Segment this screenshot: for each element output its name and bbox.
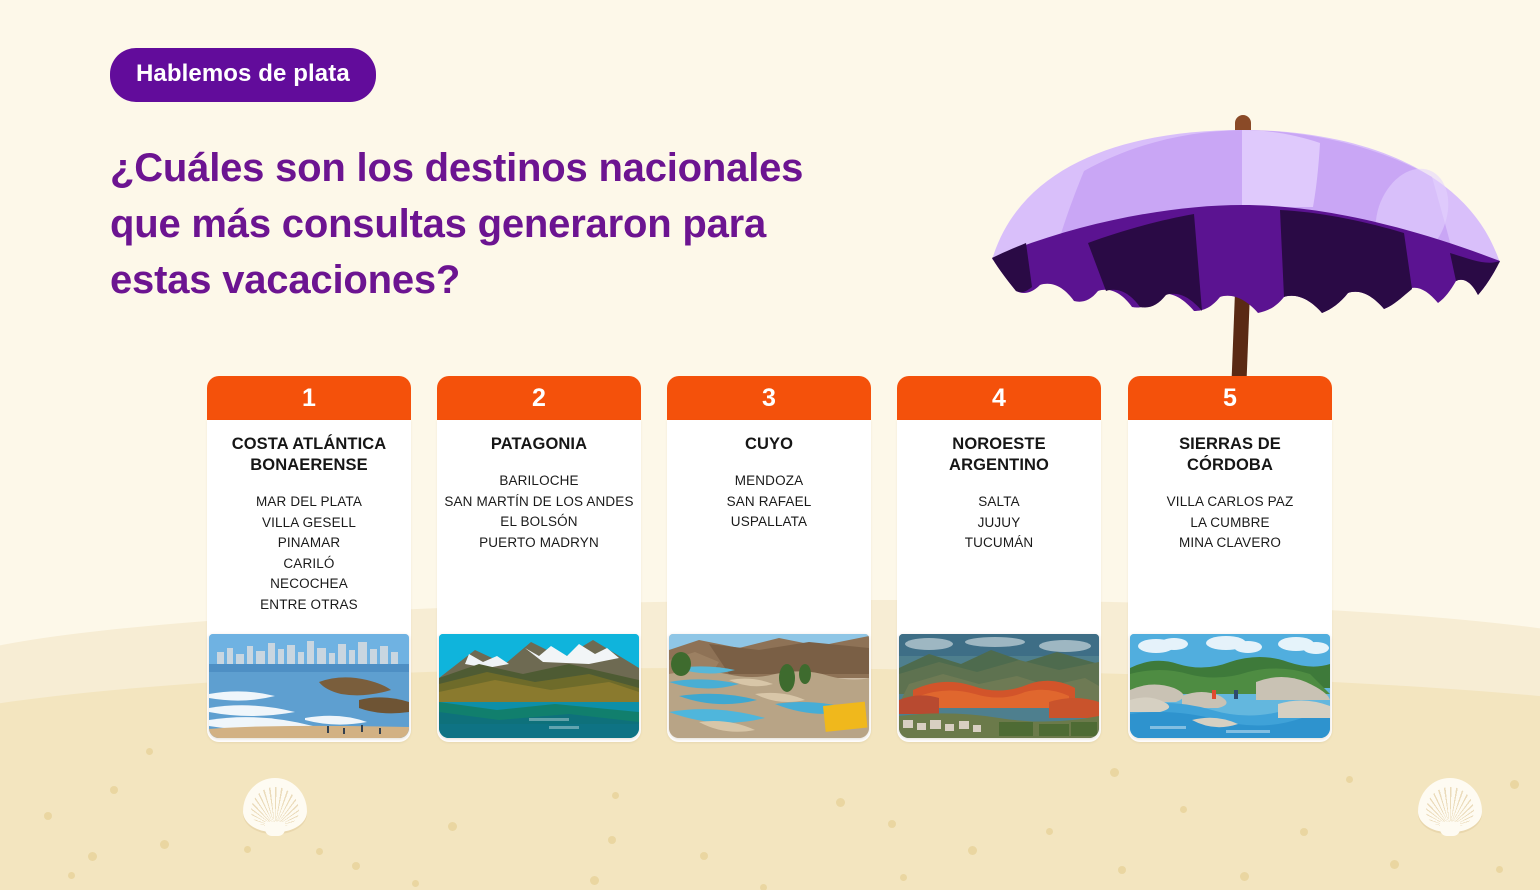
- ranking-card-5[interactable]: 5 SIERRAS DE CÓRDOBA VILLA CARLOS PAZLA …: [1128, 376, 1332, 742]
- place-item: MENDOZA: [671, 471, 867, 492]
- sand-dot: [146, 748, 153, 755]
- sand-dot: [968, 846, 977, 855]
- card-places-3: MENDOZASAN RAFAELUSPALLATA: [671, 471, 867, 533]
- ranking-card-3[interactable]: 3 CUYO MENDOZASAN RAFAELUSPALLATA: [667, 376, 871, 742]
- sand-dot: [1510, 780, 1519, 789]
- rank-badge-4: 4: [897, 376, 1101, 420]
- seashell-icon-left: [243, 778, 307, 838]
- place-item: PUERTO MADRYN: [441, 533, 637, 554]
- sand-dot: [68, 872, 75, 879]
- sand-dot: [88, 852, 97, 861]
- sand-dot: [900, 874, 907, 881]
- rank-badge-2: 2: [437, 376, 641, 420]
- rank-badge-5: 5: [1128, 376, 1332, 420]
- sand-dot: [44, 812, 52, 820]
- sand-dot: [836, 798, 845, 807]
- sand-dot: [1046, 828, 1053, 835]
- place-item: SAN RAFAEL: [671, 492, 867, 513]
- sand-dot: [1180, 806, 1187, 813]
- place-item: SAN MARTÍN DE LOS ANDES: [441, 492, 637, 513]
- sand-dot: [1390, 860, 1399, 869]
- sand-dot: [244, 846, 251, 853]
- sand-dot: [110, 786, 118, 794]
- place-item: BARILOCHE: [441, 471, 637, 492]
- card-places-1: MAR DEL PLATAVILLA GESELLPINAMARCARILÓNE…: [211, 492, 407, 615]
- beach-umbrella-illustration: [980, 95, 1520, 415]
- sierras-cordoba-river-photo: [1130, 634, 1330, 738]
- place-item: EL BOLSÓN: [441, 512, 637, 533]
- place-item: SALTA: [901, 492, 1097, 513]
- place-item: JUJUY: [901, 513, 1097, 534]
- sand-dot: [888, 820, 896, 828]
- person-figure: [1212, 690, 1216, 699]
- place-item: PINAMAR: [211, 533, 407, 554]
- card-title-2: PATAGONIA: [446, 434, 632, 455]
- card-title-4: NOROESTE ARGENTINO: [906, 434, 1092, 476]
- umbrella-panel-c1: [1242, 130, 1320, 207]
- sand-dot: [1496, 866, 1503, 873]
- place-item: ENTRE OTRAS: [211, 595, 407, 616]
- place-item: MAR DEL PLATA: [211, 492, 407, 513]
- ranking-card-4[interactable]: 4 NOROESTE ARGENTINO SALTAJUJUYTUCUMÁN: [897, 376, 1101, 742]
- section-badge: Hablemos de plata: [110, 48, 376, 102]
- headline-line-3: estas vacaciones?: [110, 252, 940, 308]
- rank-badge-3: 3: [667, 376, 871, 420]
- card-title-5: SIERRAS DE CÓRDOBA: [1137, 434, 1323, 476]
- sand-dot: [316, 848, 323, 855]
- place-item: CARILÓ: [211, 554, 407, 575]
- card-title-3: CUYO: [676, 434, 862, 455]
- mar-del-plata-coast-photo: [209, 634, 409, 738]
- place-item: VILLA GESELL: [211, 513, 407, 534]
- ranking-cards: 1 COSTA ATLÁNTICA BONAERENSE MAR DEL PLA…: [0, 376, 1540, 746]
- place-item: NECOCHEA: [211, 574, 407, 595]
- sand-dot: [412, 880, 419, 887]
- place-item: MINA CLAVERO: [1132, 533, 1328, 554]
- sand-dot: [760, 884, 767, 890]
- place-item: LA CUMBRE: [1132, 513, 1328, 534]
- page-title: ¿Cuáles son los destinos nacionales que …: [110, 140, 940, 308]
- card-places-4: SALTAJUJUYTUCUMÁN: [901, 492, 1097, 554]
- sand-dot: [1110, 768, 1119, 777]
- place-item: USPALLATA: [671, 512, 867, 533]
- card-title-1: COSTA ATLÁNTICA BONAERENSE: [216, 434, 402, 476]
- sand-dot: [1300, 828, 1308, 836]
- ranking-card-1[interactable]: 1 COSTA ATLÁNTICA BONAERENSE MAR DEL PLA…: [207, 376, 411, 742]
- headline-line-1: ¿Cuáles son los destinos nacionales: [110, 140, 940, 196]
- place-item: VILLA CARLOS PAZ: [1132, 492, 1328, 513]
- noroeste-colored-hills-photo: [899, 634, 1099, 738]
- sand-dot: [160, 840, 169, 849]
- sand-dot: [352, 862, 360, 870]
- sand-dot: [1118, 866, 1126, 874]
- ranking-card-2[interactable]: 2 PATAGONIA BARILOCHESAN MARTÍN DE LOS A…: [437, 376, 641, 742]
- sand-dot: [608, 836, 616, 844]
- sand-dot: [700, 852, 708, 860]
- sand-dot: [448, 822, 457, 831]
- seashell-icon-right: [1418, 778, 1482, 838]
- headline-line-2: que más consultas generaron para: [110, 196, 940, 252]
- sand-dot: [612, 792, 619, 799]
- rank-badge-1: 1: [207, 376, 411, 420]
- infographic-canvas: Hablemos de plata ¿Cuáles son los destin…: [0, 0, 1540, 890]
- cuyo-thermal-pools-photo: [669, 634, 869, 738]
- sand-dot: [1346, 776, 1353, 783]
- patagonia-lake-mountains-photo: [439, 634, 639, 738]
- card-places-2: BARILOCHESAN MARTÍN DE LOS ANDESEL BOLSÓ…: [441, 471, 637, 553]
- sand-dot: [1240, 872, 1249, 881]
- place-item: TUCUMÁN: [901, 533, 1097, 554]
- sand-dot: [590, 876, 599, 885]
- card-places-5: VILLA CARLOS PAZLA CUMBREMINA CLAVERO: [1132, 492, 1328, 554]
